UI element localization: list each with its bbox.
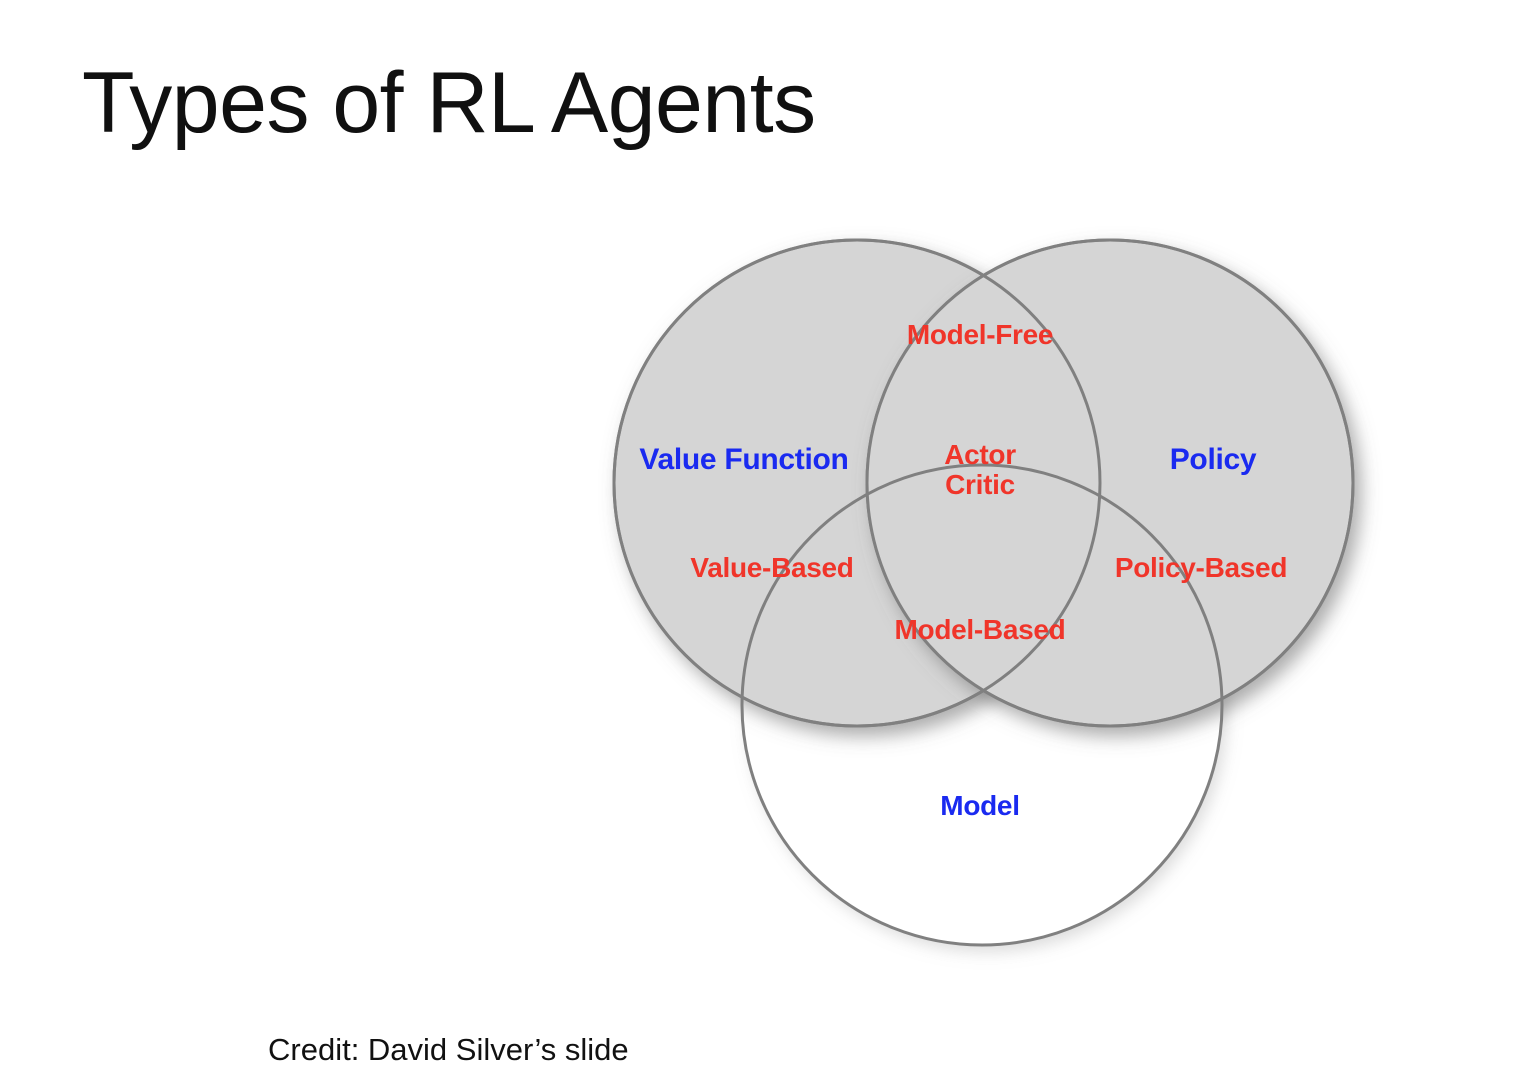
label-actor: Actor — [944, 440, 1016, 470]
label-value-function: Value Function — [639, 444, 848, 476]
label-value-based: Value-Based — [690, 553, 853, 583]
label-critic: Critic — [944, 470, 1016, 500]
venn-diagram-canvas — [0, 0, 1540, 1074]
label-policy-based: Policy-Based — [1115, 553, 1287, 583]
label-model: Model — [940, 791, 1019, 821]
label-model-based: Model-Based — [895, 615, 1066, 645]
label-model-free: Model-Free — [907, 320, 1053, 350]
credit-text: Credit: David Silver’s slide — [268, 1032, 629, 1068]
venn-diagram: Value Function Policy Model Model-Free A… — [0, 0, 1540, 1074]
label-policy: Policy — [1170, 444, 1257, 476]
label-actor-critic: Actor Critic — [944, 440, 1016, 500]
